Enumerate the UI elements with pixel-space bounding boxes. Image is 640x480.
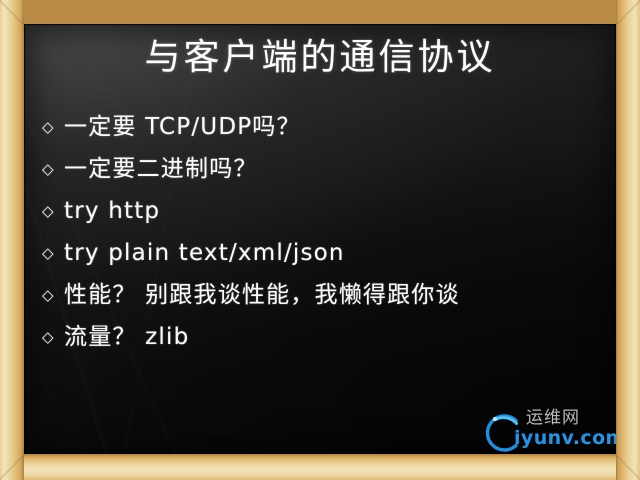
diamond-bullet-icon: ◇: [42, 278, 64, 312]
frame-edge-bottom: [0, 454, 640, 480]
list-item-label: 流量？ zlib: [64, 320, 606, 354]
list-item: ◇ 性能？ 别跟我谈性能，我懒得跟你谈: [42, 278, 606, 320]
list-item: ◇ try plain text/xml/json: [42, 236, 606, 278]
list-item-label: 性能？ 别跟我谈性能，我懒得跟你谈: [64, 278, 606, 312]
watermark-site-name: 运维网: [526, 408, 580, 428]
frame-edge-right: [616, 0, 640, 480]
diamond-bullet-icon: ◇: [42, 236, 64, 270]
list-item: ◇ 一定要 TCP/UDP吗？: [42, 110, 606, 152]
frame-edge-left: [0, 0, 24, 480]
list-item-label: 一定要二进制吗？: [64, 152, 606, 186]
list-item-label: 一定要 TCP/UDP吗？: [64, 110, 606, 144]
chalkboard-surface: 与客户端的通信协议 ◇ 一定要 TCP/UDP吗？ ◇ 一定要二进制吗？ ◇ t…: [24, 24, 616, 454]
diamond-bullet-icon: ◇: [42, 194, 64, 228]
site-watermark: 运维网 iyunv.com: [480, 404, 612, 454]
page-title: 与客户端的通信协议: [24, 36, 616, 80]
chalkboard-slide: 与客户端的通信协议 ◇ 一定要 TCP/UDP吗？ ◇ 一定要二进制吗？ ◇ t…: [0, 0, 640, 480]
watermark-site-url: iyunv.com: [514, 427, 616, 449]
bullet-list: ◇ 一定要 TCP/UDP吗？ ◇ 一定要二进制吗？ ◇ try http ◇ …: [42, 110, 606, 362]
list-item: ◇ try http: [42, 194, 606, 236]
diamond-bullet-icon: ◇: [42, 320, 64, 354]
frame-edge-top: [0, 0, 640, 24]
diamond-bullet-icon: ◇: [42, 152, 64, 186]
slide-content: 与客户端的通信协议 ◇ 一定要 TCP/UDP吗？ ◇ 一定要二进制吗？ ◇ t…: [24, 24, 616, 454]
list-item: ◇ 流量？ zlib: [42, 320, 606, 362]
list-item-label: try plain text/xml/json: [64, 236, 606, 270]
diamond-bullet-icon: ◇: [42, 110, 64, 144]
list-item: ◇ 一定要二进制吗？: [42, 152, 606, 194]
list-item-label: try http: [64, 194, 606, 228]
